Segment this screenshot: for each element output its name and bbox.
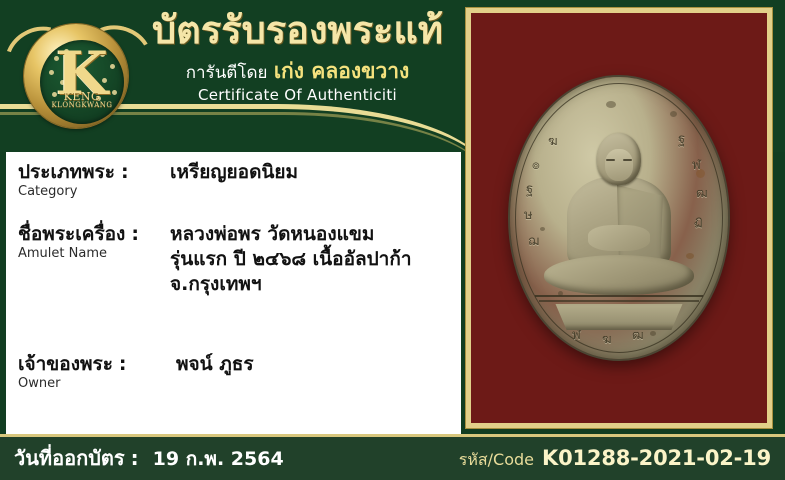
- coin-glyph-left-3: ษ: [524, 209, 533, 222]
- monk-face: [605, 149, 633, 181]
- field-owner-label-th-text: เจ้าของพระ: [18, 353, 113, 375]
- issue-date-group: วันที่ออกบัตร:19 ก.พ. 2564: [14, 445, 284, 472]
- field-category-value-text: เหรียญยอดนิยม: [170, 160, 298, 185]
- logo-brand-name: KENG KLONGKWANG: [40, 92, 124, 110]
- issue-date-value: 19 ก.พ. 2564: [153, 448, 284, 470]
- coin-glyph-right-1: ฐ: [678, 133, 685, 146]
- field-owner-value: พจน์ ภูธร: [176, 352, 254, 377]
- coin-glyph-left-4: ฌ: [528, 235, 539, 248]
- field-owner-colon: :: [119, 353, 127, 375]
- certificate-card: K KENG KLONGKWANG บัตรรับรองพระแท้ การัน…: [0, 0, 785, 480]
- monk-lap: [544, 255, 694, 295]
- monk-arms: [588, 225, 650, 251]
- field-owner-label-th: เจ้าของพระ:: [18, 352, 166, 376]
- guaranteed-by-label: การันตีโดย: [186, 63, 268, 83]
- coin-glyph-bottom-2: ฆ: [602, 333, 612, 346]
- monk-robe: [617, 185, 663, 263]
- amulet-photo-frame: ๏ ฐ ษ ฌ ฆ ฐ ฬ ฒ ฏ ฬ ฆ ฒ: [466, 8, 772, 428]
- field-category: ประเภทพระ: Category เหรียญยอดนิยม: [18, 160, 298, 185]
- field-amulet-name: ชื่อพระเครื่อง: Amulet Name หลวงพ่อพร วั…: [18, 222, 412, 297]
- guaranteed-by-line: การันตีโดย เก่ง คลองขวาง: [125, 58, 470, 86]
- logo-gold-ring: K KENG KLONGKWANG: [24, 24, 128, 128]
- monk-eye-left: [606, 159, 615, 161]
- certificate-title-thai: บัตรรับรองพระแท้: [125, 8, 470, 52]
- field-amulet-name-label-th-text: ชื่อพระเครื่อง: [18, 223, 125, 245]
- certificate-title-english: Certificate Of Authenticiti: [125, 86, 470, 105]
- brand-logo: K KENG KLONGKWANG: [18, 18, 130, 140]
- field-amulet-name-colon: :: [131, 223, 139, 245]
- field-amulet-name-label-th: ชื่อพระเครื่อง:: [18, 222, 166, 246]
- field-amulet-name-label-box: ชื่อพระเครื่อง: Amulet Name: [18, 222, 166, 261]
- field-category-label-box: ประเภทพระ: Category: [18, 160, 166, 199]
- field-amulet-name-value-line-1: หลวงพ่อพร วัดหนองแขม: [170, 222, 412, 247]
- certificate-code-value: K01288-2021-02-19: [542, 446, 771, 470]
- card-footer: วันที่ออกบัตร:19 ก.พ. 2564 รหัส/CodeK012…: [0, 437, 785, 480]
- amulet-coin-image: ๏ ฐ ษ ฌ ฆ ฐ ฬ ฒ ฏ ฬ ฆ ฒ: [510, 77, 728, 359]
- field-amulet-name-value-line-3: จ.กรุงเทพฯ: [170, 272, 412, 297]
- coin-glyph-bottom-3: ฒ: [632, 329, 644, 342]
- coin-glyph-left-5: ฆ: [548, 135, 558, 148]
- coin-glyph-left-2: ฐ: [526, 183, 533, 196]
- logo-brand-name-line1: KENG: [40, 92, 124, 101]
- field-owner-label-en: Owner: [18, 376, 166, 391]
- guaranteed-by-name: เก่ง คลองขวาง: [274, 59, 409, 83]
- field-category-colon: :: [121, 161, 129, 183]
- coin-glyph-left-1: ๏: [532, 159, 540, 172]
- logo-inner-disc: K KENG KLONGKWANG: [40, 40, 124, 124]
- field-category-value: เหรียญยอดนิยม: [170, 160, 298, 185]
- issue-date-label: วันที่ออกบัตร: [14, 446, 125, 470]
- coin-glyph-right-2: ฬ: [692, 159, 701, 172]
- field-category-label-th: ประเภทพระ:: [18, 160, 166, 184]
- field-category-label-th-text: ประเภทพระ: [18, 161, 115, 183]
- issue-date-colon: :: [131, 446, 139, 470]
- amulet-photo: ๏ ฐ ษ ฌ ฆ ฐ ฬ ฒ ฏ ฬ ฆ ฒ: [471, 13, 767, 423]
- field-amulet-name-value: หลวงพ่อพร วัดหนองแขม รุ่นแรก ปี ๒๔๖๘ เนื…: [170, 222, 412, 297]
- field-owner-value-text: พจน์ ภูธร: [176, 352, 254, 377]
- coin-glyph-right-3: ฒ: [696, 187, 708, 200]
- field-owner-label-box: เจ้าของพระ: Owner: [18, 352, 166, 391]
- monk-eye-right: [623, 159, 632, 161]
- coin-glyph-right-4: ฏ: [694, 215, 703, 228]
- field-category-label-en: Category: [18, 184, 166, 199]
- coin-base-plinth: [550, 304, 688, 330]
- logo-brand-name-line2: KLONGKWANG: [40, 101, 124, 110]
- coin-glyph-bottom-1: ฬ: [572, 329, 581, 342]
- certificate-code-group: รหัส/CodeK01288-2021-02-19: [459, 446, 771, 473]
- field-amulet-name-label-en: Amulet Name: [18, 246, 166, 261]
- certificate-code-label: รหัส/Code: [459, 450, 534, 469]
- coin-base-line-1: [535, 295, 703, 297]
- field-owner: เจ้าของพระ: Owner พจน์ ภูธร: [18, 352, 254, 377]
- field-amulet-name-value-line-2: รุ่นแรก ปี ๒๔๖๘ เนื้ออัลปาก้า: [170, 247, 412, 272]
- coin-base-line-2: [539, 300, 699, 302]
